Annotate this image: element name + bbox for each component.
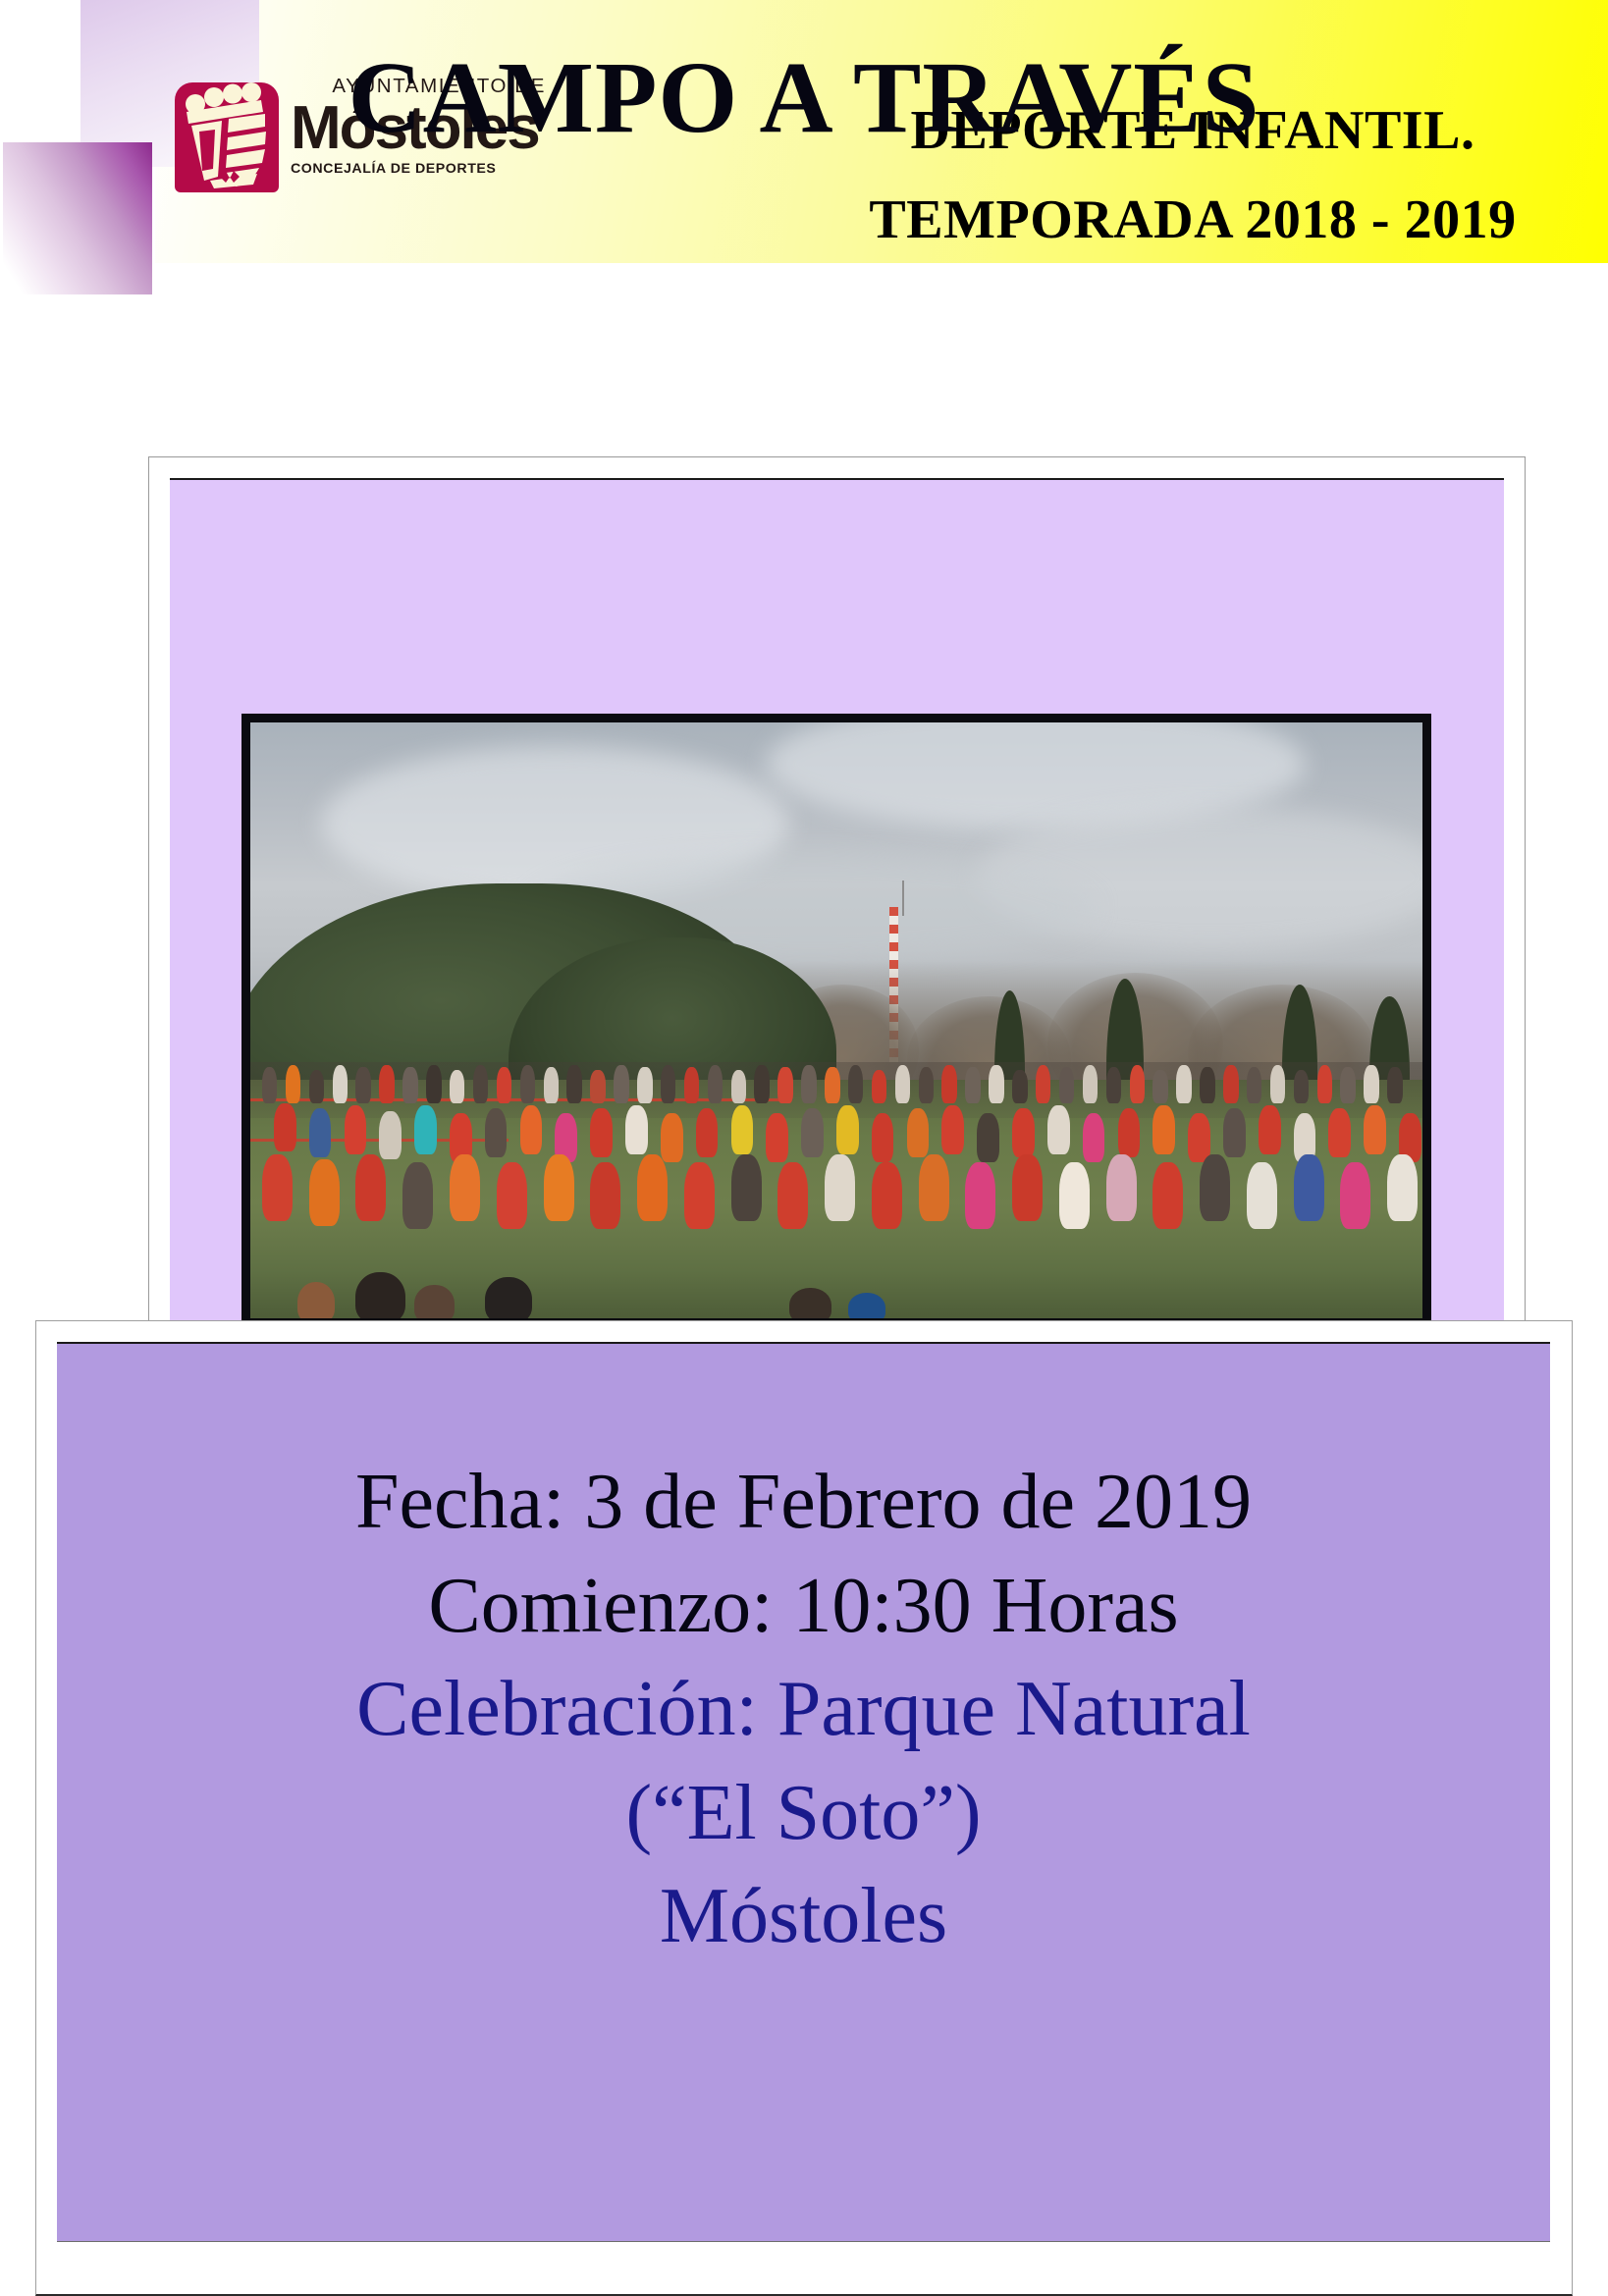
photo-runner [1364, 1105, 1386, 1154]
photo-person [355, 1067, 371, 1103]
photo-runner [402, 1162, 433, 1229]
photo-crowd [250, 1062, 1422, 1318]
photo-runner [497, 1162, 527, 1229]
photo-person [309, 1070, 325, 1103]
photo-runner [907, 1108, 930, 1157]
photo-person [402, 1067, 418, 1103]
photo-runner [661, 1113, 683, 1162]
photo-runner [625, 1105, 648, 1154]
photo-runner [965, 1162, 995, 1229]
photo-runner [825, 1154, 855, 1221]
photo-person [801, 1065, 817, 1103]
photo-runner [977, 1113, 999, 1162]
photo-person [544, 1067, 560, 1103]
photo-person [497, 1067, 512, 1103]
photo-person [1270, 1065, 1286, 1103]
photo-runner [1247, 1162, 1277, 1229]
photo-runner [309, 1159, 340, 1226]
photo-runner [1012, 1154, 1043, 1221]
photo-person [1364, 1065, 1379, 1103]
photo-runner [836, 1105, 859, 1154]
photo-person [333, 1065, 348, 1103]
photo-runner [637, 1154, 668, 1221]
photo-person [1340, 1067, 1356, 1103]
photo-runner [345, 1105, 367, 1154]
photo-person [848, 1065, 864, 1103]
photo-runner [1223, 1108, 1246, 1157]
photo-runner [1340, 1162, 1370, 1229]
photo-person [473, 1065, 489, 1103]
photo-person [1083, 1065, 1099, 1103]
photo-person [872, 1070, 887, 1103]
photo-runner [520, 1105, 543, 1154]
photo-runner [1294, 1154, 1324, 1221]
photo-runner [1083, 1113, 1105, 1162]
photo-runner [1152, 1105, 1175, 1154]
logo-department-name: CONCEJALÍA DE DEPORTES [291, 161, 548, 177]
photo-person [777, 1067, 793, 1103]
event-title: CAMPO A TRAVÉS [0, 47, 1608, 149]
photo-runner [801, 1108, 824, 1157]
event-venue-line-3: Móstoles [57, 1865, 1550, 1969]
photo-runner [1259, 1105, 1281, 1154]
photo-runner [731, 1154, 762, 1221]
photo-person [684, 1067, 700, 1103]
photo-person [426, 1065, 442, 1103]
photo-person [520, 1065, 536, 1103]
photo-runner [544, 1154, 574, 1221]
photo-foreground-person [297, 1282, 335, 1318]
photo-runner [1106, 1154, 1137, 1221]
photo-runner [777, 1162, 808, 1229]
photo-runner [485, 1108, 508, 1157]
photo-person [919, 1067, 935, 1103]
photo-foreground-person [848, 1293, 885, 1318]
photo-person [1223, 1065, 1239, 1103]
event-details: Fecha: 3 de Febrero de 2019 Comienzo: 10… [57, 1451, 1550, 1969]
photo-runner [1200, 1154, 1230, 1221]
photo-runner [309, 1108, 332, 1157]
photo-runner [731, 1105, 754, 1154]
photo-runner [1118, 1108, 1141, 1157]
photo-person [965, 1067, 981, 1103]
event-venue-line-1: Celebración: Parque Natural [57, 1658, 1550, 1762]
photo-foreground-person [355, 1272, 404, 1318]
photo-person [708, 1065, 724, 1103]
photo-runner [262, 1154, 293, 1221]
photo-person [1200, 1067, 1215, 1103]
photo-person [825, 1067, 840, 1103]
photo-person [895, 1065, 911, 1103]
photo-runner [274, 1103, 296, 1152]
photo-person [637, 1067, 653, 1103]
photo-runner [684, 1162, 715, 1229]
photo-runner [872, 1113, 894, 1162]
photo-person [1130, 1065, 1146, 1103]
photo-runner [872, 1162, 902, 1229]
photo-person [661, 1065, 676, 1103]
photo-person [1247, 1067, 1262, 1103]
photo-person [941, 1065, 957, 1103]
photo-person [566, 1065, 582, 1103]
photo-person [1012, 1070, 1028, 1103]
event-start-line: Comienzo: 10:30 Horas [57, 1555, 1550, 1659]
photo-runner [590, 1108, 613, 1157]
decorative-purple-rect-bottom [3, 142, 152, 294]
photo-person [286, 1065, 301, 1103]
photo-person [989, 1065, 1004, 1103]
photo-person [1152, 1070, 1168, 1103]
photo-person [379, 1065, 395, 1103]
photo-person [1317, 1065, 1333, 1103]
photo-runner [414, 1105, 437, 1154]
photo-runner [450, 1154, 480, 1221]
photo-runner [1188, 1113, 1210, 1162]
photo-person [731, 1070, 747, 1103]
photo-runner [1387, 1154, 1418, 1221]
photo-runner [696, 1108, 719, 1157]
photo-person [1176, 1065, 1192, 1103]
photo-person [450, 1070, 465, 1103]
photo-person [590, 1070, 606, 1103]
photo-person [1387, 1067, 1403, 1103]
event-photo [250, 722, 1422, 1318]
photo-runner [1059, 1162, 1090, 1229]
photo-runner [919, 1154, 949, 1221]
photo-foreground-person [485, 1277, 532, 1318]
photo-person [754, 1065, 770, 1103]
photo-runner [1328, 1108, 1351, 1157]
photo-foreground-person [414, 1285, 455, 1318]
photo-person [1036, 1065, 1051, 1103]
event-date-line: Fecha: 3 de Febrero de 2019 [57, 1451, 1550, 1555]
photo-runner [379, 1111, 402, 1160]
event-photo-frame [241, 714, 1431, 1327]
event-venue-line-2: (“El Soto”) [57, 1762, 1550, 1866]
photo-person [1106, 1067, 1122, 1103]
photo-person [262, 1067, 278, 1103]
photo-runner [766, 1113, 788, 1162]
photo-foreground-person [789, 1288, 831, 1318]
photo-runner [941, 1105, 964, 1154]
photo-person [1294, 1070, 1310, 1103]
photo-person [1059, 1067, 1075, 1103]
photo-person [614, 1065, 629, 1103]
photo-runner [355, 1154, 386, 1221]
header-title-line-2: TEMPORADA 2018 - 2019 [805, 176, 1581, 265]
photo-runner [1152, 1162, 1183, 1229]
photo-antenna-tip [902, 881, 904, 916]
photo-runner [1012, 1108, 1035, 1157]
photo-runner [1047, 1105, 1070, 1154]
photo-runner [590, 1162, 620, 1229]
